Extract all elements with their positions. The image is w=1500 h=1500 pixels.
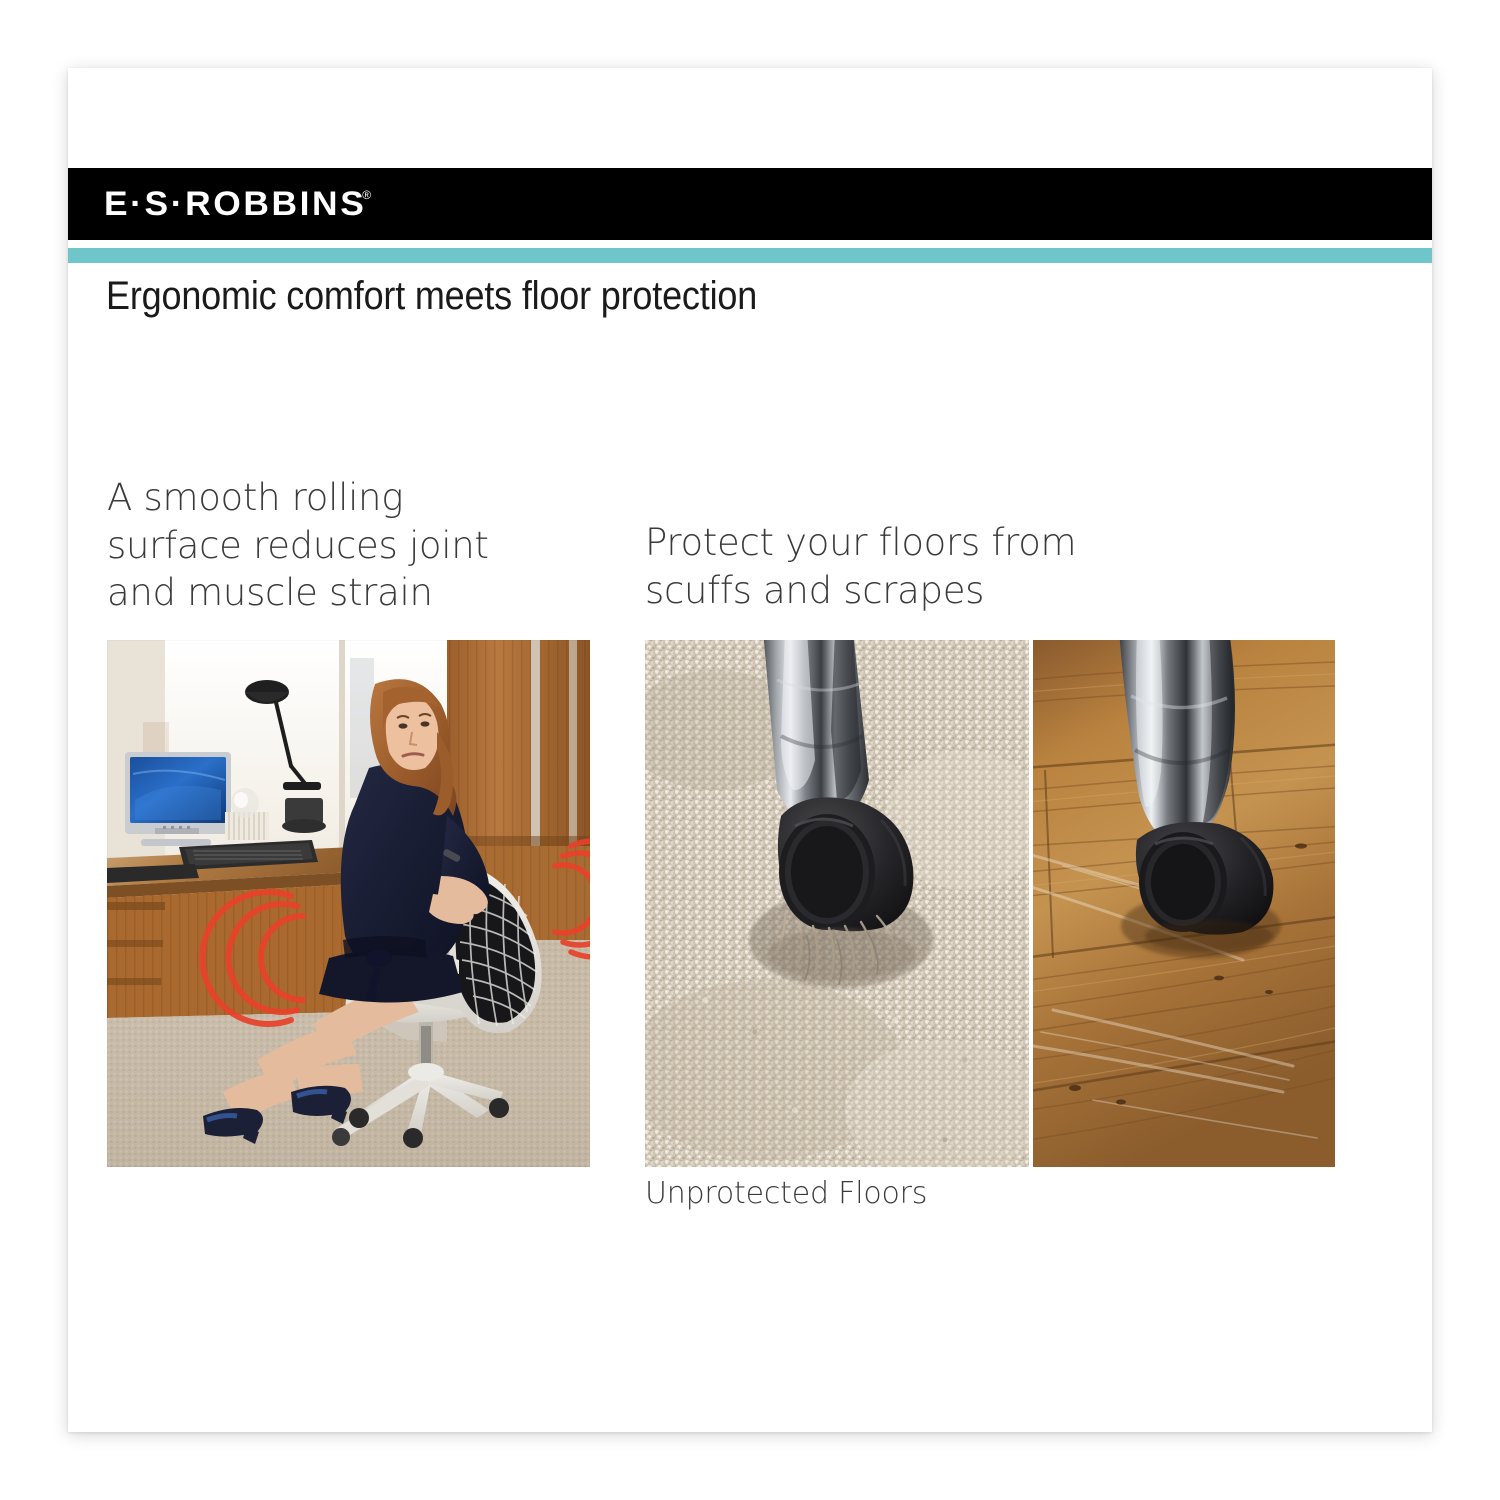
office-worker-back-pain-photo: [107, 640, 590, 1167]
right-subheading: Protect your floors from scuffs and scra…: [645, 519, 1345, 614]
product-card: E·S·ROBBINS ® Ergonomic comfort meets fl…: [68, 68, 1432, 1432]
es-robbins-logo: E·S·ROBBINS ®: [104, 187, 371, 221]
right-column: Protect your floors from scuffs and scra…: [645, 519, 1345, 614]
unprotected-floors-photo-pair: [645, 640, 1335, 1167]
left-subheading: A smooth rolling surface reduces joint a…: [107, 474, 607, 617]
teal-accent-bar: [68, 248, 1432, 263]
photo-pair-caption: Unprotected Floors: [645, 1176, 927, 1211]
caster-on-carpet-photo: [645, 640, 1029, 1167]
left-column: A smooth rolling surface reduces joint a…: [107, 474, 607, 617]
caster-on-hardwood-photo: [1033, 640, 1335, 1167]
logo-wordmark: E·S·ROBBINS: [104, 187, 366, 221]
product-marketing-page: E·S·ROBBINS ® Ergonomic comfort meets fl…: [0, 0, 1500, 1500]
page-headline: Ergonomic comfort meets floor protection: [106, 274, 1258, 319]
brand-bar: E·S·ROBBINS ®: [68, 168, 1432, 240]
